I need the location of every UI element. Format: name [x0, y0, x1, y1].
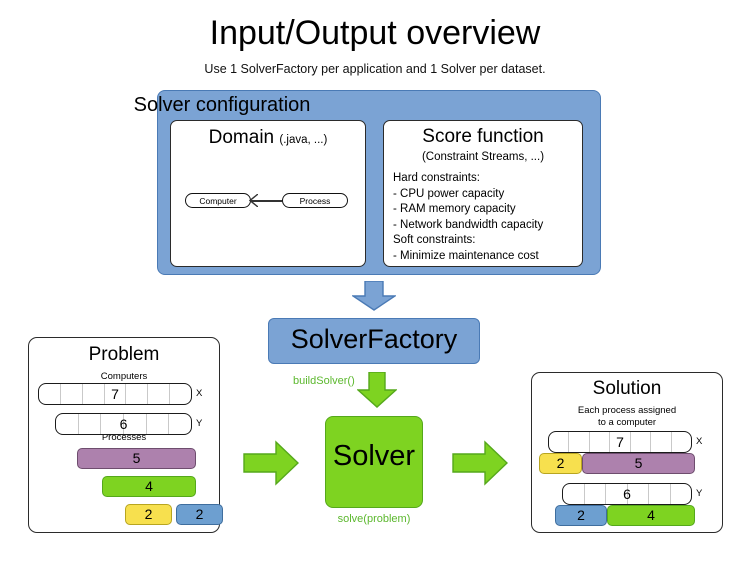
- arrow-right-icon-input: [243, 440, 299, 486]
- computer-capacity-bar: 6: [562, 483, 692, 505]
- computer-capacity-value: 7: [549, 432, 691, 452]
- process-bar: 2: [176, 504, 223, 525]
- solver-configuration-title: Solver configuration: [0, 94, 444, 117]
- score-function-card: Score function (Constraint Streams, ...)…: [383, 120, 583, 267]
- computer-capacity-bar: 7: [38, 383, 192, 405]
- process-bar: 4: [102, 476, 196, 497]
- score-function-constraints: Hard constraints:- CPU power capacity- R…: [393, 171, 579, 264]
- association-arrow-icon: [249, 194, 258, 207]
- constraint-line: - RAM memory capacity: [393, 202, 579, 218]
- build-solver-label: buildSolver(): [293, 375, 355, 387]
- domain-title: Domain (.java, ...): [171, 127, 365, 149]
- process-bar: 2: [125, 504, 172, 525]
- arrow-down-icon-blue: [352, 281, 396, 311]
- domain-title-suffix: (.java, ...): [279, 134, 327, 146]
- constraint-line: - Minimize maintenance cost: [393, 249, 579, 265]
- process-bar: 5: [77, 448, 196, 469]
- problem-computers-caption: Computers: [29, 371, 219, 383]
- solver-factory-label: SolverFactory: [268, 324, 480, 355]
- page-title: Input/Output overview: [0, 14, 750, 53]
- score-function-title: Score function: [384, 126, 582, 148]
- computer-axis-label: X: [196, 383, 202, 405]
- computer-capacity-bar: 7: [548, 431, 692, 453]
- process-bar: 2: [555, 505, 607, 526]
- constraint-line: Soft constraints:: [393, 233, 579, 249]
- score-function-subtitle: (Constraint Streams, ...): [384, 151, 582, 163]
- solution-title: Solution: [532, 378, 722, 400]
- arrow-down-icon-green: [357, 372, 397, 408]
- process-bar: 4: [607, 505, 695, 526]
- process-bar: 2: [539, 453, 582, 474]
- solution-panel: Solution Each process assigned to a comp…: [531, 372, 723, 533]
- arrow-right-icon-output: [452, 440, 508, 486]
- computer-capacity-value: 7: [39, 384, 191, 404]
- diagram-canvas: Input/Output overview Use 1 SolverFactor…: [0, 0, 750, 563]
- solve-problem-label: solve(problem): [325, 513, 423, 525]
- constraint-line: - CPU power capacity: [393, 187, 579, 203]
- computer-axis-label: X: [696, 431, 702, 453]
- solution-caption-line1: Each process assigned: [532, 405, 722, 417]
- problem-title: Problem: [29, 344, 219, 366]
- computer-axis-label: Y: [696, 483, 702, 505]
- solver-label: Solver: [325, 440, 423, 473]
- entity-process: Process: [282, 193, 348, 208]
- problem-panel: Problem Computers Processes 7X6Y 5422: [28, 337, 220, 533]
- computer-capacity-value: 6: [56, 414, 191, 434]
- computer-capacity-bar: 6: [55, 413, 192, 435]
- computer-capacity-value: 6: [563, 484, 691, 504]
- domain-title-text: Domain: [209, 127, 274, 148]
- constraint-line: Hard constraints:: [393, 171, 579, 187]
- process-bar: 5: [582, 453, 695, 474]
- solution-caption-line2: to a computer: [532, 417, 722, 429]
- computer-axis-label: Y: [196, 413, 202, 435]
- constraint-line: - Network bandwidth capacity: [393, 218, 579, 234]
- page-subtitle: Use 1 SolverFactory per application and …: [0, 62, 750, 76]
- entity-computer: Computer: [185, 193, 251, 208]
